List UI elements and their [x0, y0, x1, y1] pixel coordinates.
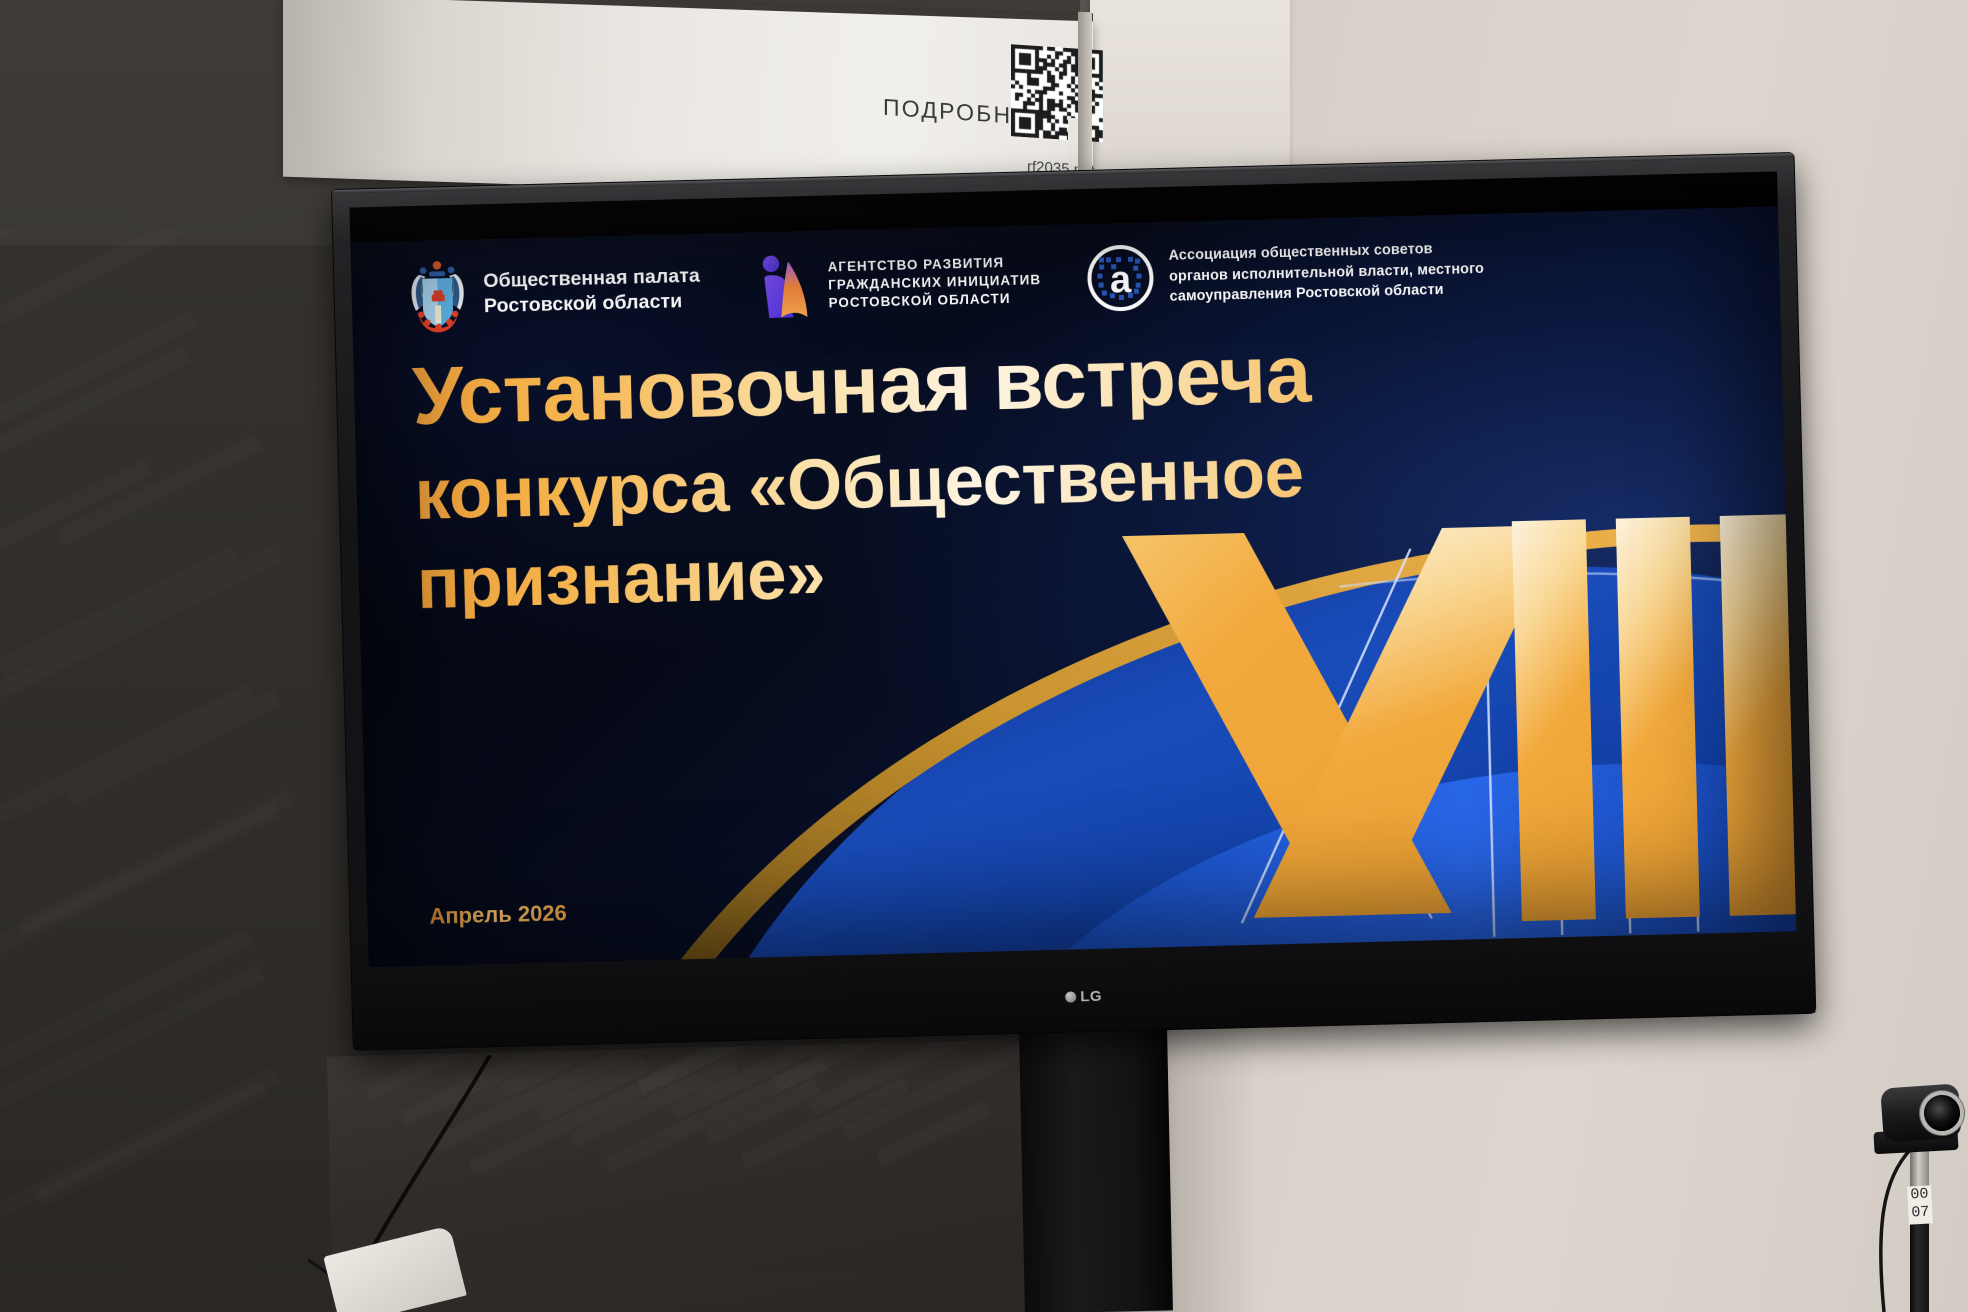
logo-association-label: Ассоциация общественных советов органов …	[1168, 238, 1485, 307]
logo-public-chamber: Общественная палата Ростовской области	[405, 252, 701, 333]
slide-title-line-1: Установочная встреча	[411, 331, 1393, 438]
rostov-region-coat-of-arms-icon	[405, 258, 471, 334]
slide-title-line-2: конкурса «Общественное	[414, 435, 1395, 531]
webcam-label-bottom: 07	[1911, 1204, 1930, 1222]
logo-public-chamber-label: Общественная палата Ростовской области	[483, 264, 701, 319]
lg-brand-logo: LG	[1065, 988, 1102, 1006]
presentation-slide: Общественная палата Ростовской области	[349, 171, 1796, 967]
association-circle-a-icon: а	[1084, 242, 1156, 314]
slide-title-block: Установочная встреча конкурса «Обществен…	[411, 331, 1397, 620]
webcam-asset-label: 00 07	[1907, 1185, 1933, 1224]
tv-screen: Общественная палата Ростовской области	[349, 171, 1796, 967]
poster-side-edge	[1078, 12, 1092, 182]
logo-agency: АГЕНТСТВО РАЗВИТИЯ ГРАЖДАНСКИХ ИНИЦИАТИВ…	[757, 247, 1042, 320]
poster-board-right	[1090, 0, 1290, 185]
lg-brand-text: LG	[1080, 988, 1102, 1006]
slide-date: Апрель 2026	[429, 900, 567, 929]
lg-display: Общественная палата Ростовской области	[332, 153, 1815, 1050]
lg-dot-icon	[1065, 991, 1076, 1002]
logo-association: а Ассоциация общественных советов органо…	[1084, 234, 1485, 314]
webcam-on-stand: 00 07	[1862, 1086, 1968, 1312]
screenshot-root: ПОДРОБНЕЕ rf2035.net	[0, 0, 1968, 1312]
webcam-pole-chrome	[1910, 1149, 1929, 1189]
tv-stand-column	[1019, 1028, 1173, 1312]
logo-agency-label: АГЕНТСТВО РАЗВИТИЯ ГРАЖДАНСКИХ ИНИЦИАТИВ…	[827, 253, 1041, 312]
svg-text:а: а	[1109, 259, 1132, 302]
webcam-label-top: 00	[1910, 1186, 1929, 1204]
poster-sticker	[1068, 118, 1078, 162]
agency-arrow-figure-icon	[757, 253, 819, 320]
